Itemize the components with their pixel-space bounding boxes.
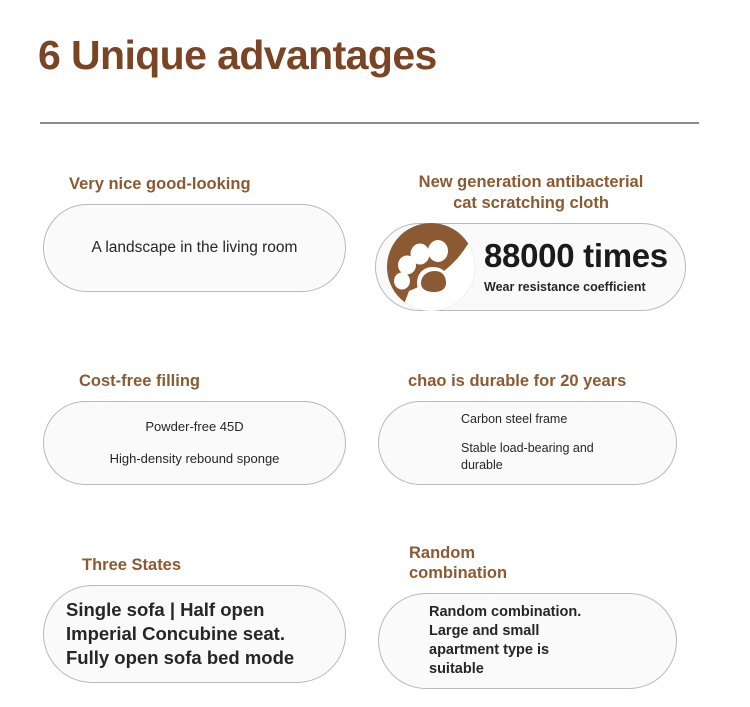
- metric-label: Wear resistance coefficient: [484, 280, 646, 294]
- feature-card-antibacterial-cloth: New generation antibacterial cat scratch…: [375, 172, 687, 311]
- feature-pill-card[interactable]: Single sofa | Half open Imperial Concubi…: [43, 585, 346, 683]
- feature-heading: Random combination: [378, 543, 539, 584]
- feature-heading: Three States: [43, 555, 348, 576]
- card-line: Single sofa | Half open: [66, 598, 264, 622]
- feature-heading-line-2: cat scratching cloth: [453, 194, 609, 212]
- card-line: High-density rebound sponge: [110, 451, 280, 466]
- feature-card-durable-20-years: chao is durable for 20 years Carbon stee…: [378, 371, 678, 485]
- advantages-page: 6 Unique advantages Very nice good-looki…: [0, 0, 750, 707]
- paw-print-icon: [375, 211, 487, 323]
- feature-heading-line-2: combination: [409, 564, 507, 582]
- feature-heading: Cost-free filling: [43, 371, 348, 392]
- feature-pill-card[interactable]: Carbon steel frame Stable load-bearing a…: [378, 401, 677, 485]
- feature-card-cost-free-filling: Cost-free filling Powder-free 45D High-d…: [43, 371, 348, 485]
- feature-card-three-states: Three States Single sofa | Half open Imp…: [43, 555, 348, 683]
- feature-heading: Very nice good-looking: [43, 174, 348, 195]
- card-line: Fully open sofa bed mode: [66, 646, 294, 670]
- title-divider: [40, 122, 699, 124]
- feature-card-random-combination: Random combination Random combination. L…: [378, 543, 678, 689]
- card-line: Stable load-bearing and durable: [461, 440, 601, 474]
- card-line: Powder-free 45D: [145, 419, 243, 434]
- card-line: Carbon steel frame: [461, 411, 567, 428]
- card-line: A landscape in the living room: [92, 239, 298, 257]
- feature-heading: New generation antibacterial cat scratch…: [375, 172, 687, 214]
- feature-pill-card[interactable]: 88000 times Wear resistance coefficient: [375, 223, 686, 311]
- feature-card-very-nice-good-looking: Very nice good-looking A landscape in th…: [43, 174, 348, 292]
- feature-pill-card[interactable]: Powder-free 45D High-density rebound spo…: [43, 401, 346, 485]
- feature-heading-line-1: New generation antibacterial: [419, 173, 644, 191]
- card-line: Random combination. Large and small apar…: [429, 603, 599, 680]
- feature-pill-card[interactable]: A landscape in the living room: [43, 204, 346, 292]
- feature-heading: chao is durable for 20 years: [378, 371, 678, 392]
- feature-pill-card[interactable]: Random combination. Large and small apar…: [378, 593, 677, 689]
- page-title: 6 Unique advantages: [38, 34, 708, 77]
- metric-value: 88000 times: [484, 239, 668, 273]
- feature-heading-line-1: Random: [409, 544, 475, 562]
- title-block: 6 Unique advantages: [38, 34, 708, 77]
- card-line: Imperial Concubine seat.: [66, 622, 285, 646]
